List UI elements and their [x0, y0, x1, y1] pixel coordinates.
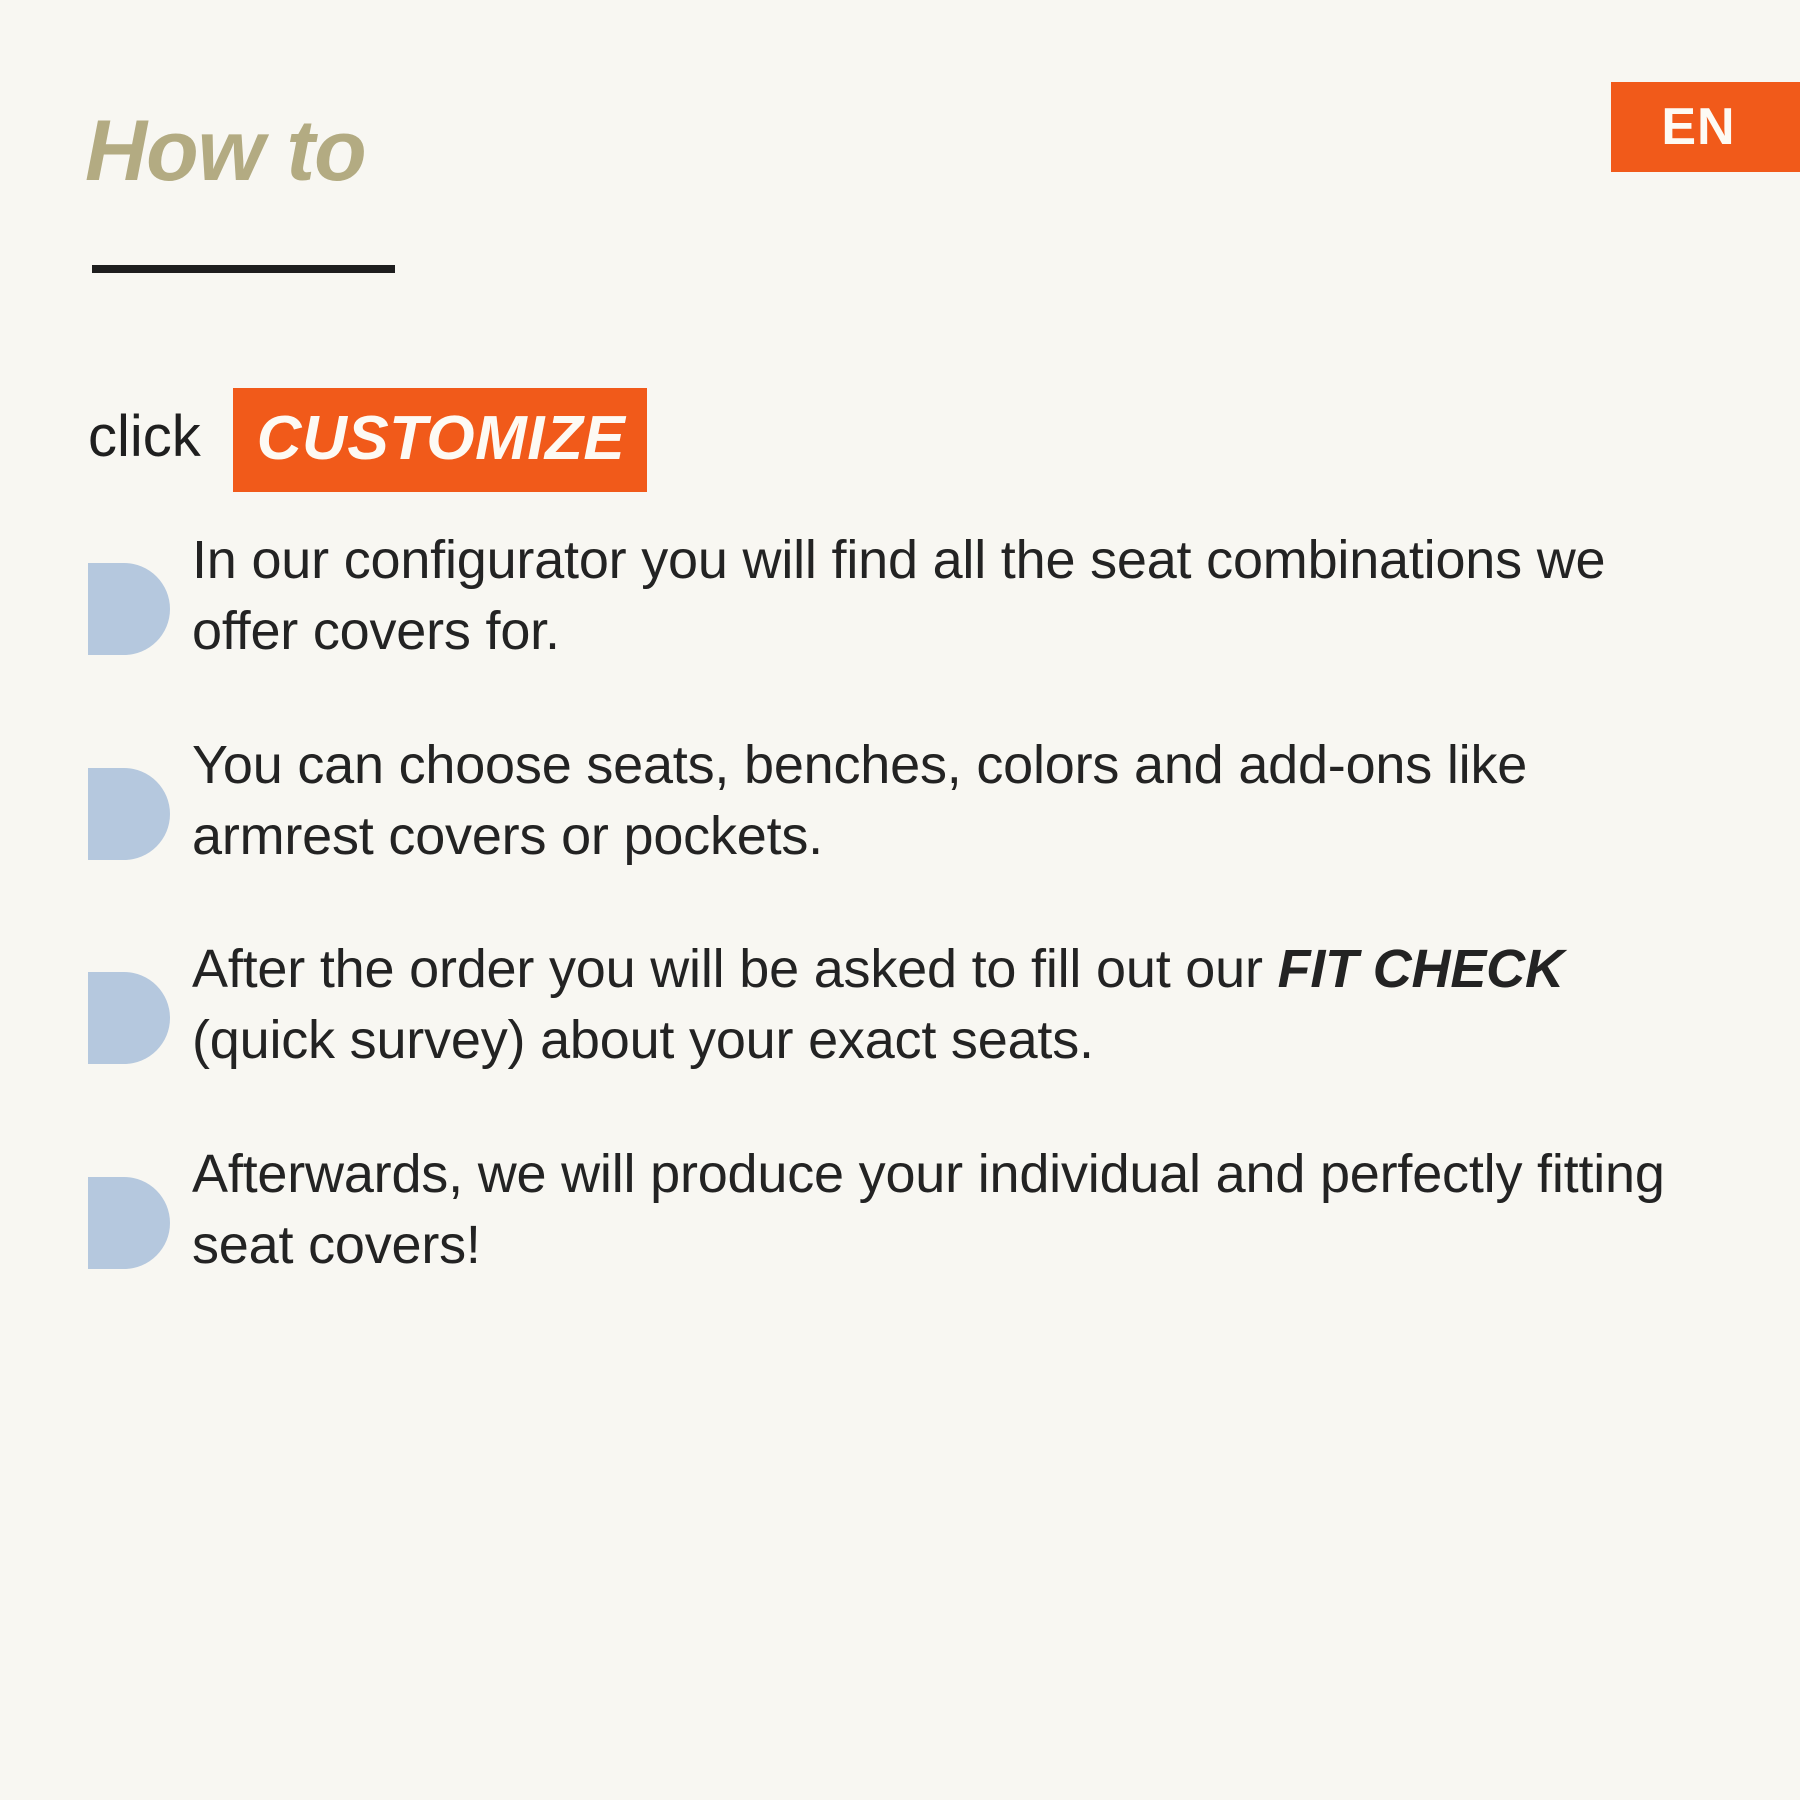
page-title: How to [85, 108, 366, 194]
list-item-text: In our configurator you will find all th… [192, 525, 1708, 668]
customize-instruction-row: click CUSTOMIZE [88, 390, 647, 490]
list-item: After the order you will be asked to fil… [88, 934, 1708, 1077]
list-item-text-after: (quick survey) about your exact seats. [192, 1010, 1094, 1070]
list-item-text-before: After the order you will be asked to fil… [192, 939, 1278, 999]
half-disc-marker-icon [88, 563, 170, 655]
list-item-text: You can choose seats, benches, colors an… [192, 730, 1708, 873]
language-badge-label: EN [1661, 101, 1735, 153]
title-underline-rule [92, 265, 395, 273]
how-to-infographic-page: EN How to click CUSTOMIZE In our configu… [0, 0, 1800, 1800]
list-item-text: Afterwards, we will produce your individ… [192, 1139, 1708, 1282]
half-disc-marker-icon [88, 972, 170, 1064]
click-label: click [88, 408, 201, 472]
list-item: You can choose seats, benches, colors an… [88, 730, 1708, 873]
half-disc-marker-icon [88, 1177, 170, 1269]
list-item: In our configurator you will find all th… [88, 525, 1708, 668]
customize-button-highlight[interactable]: CUSTOMIZE [233, 388, 647, 492]
steps-list: In our configurator you will find all th… [88, 525, 1708, 1343]
half-disc-marker-icon [88, 768, 170, 860]
list-item-text: After the order you will be asked to fil… [192, 934, 1708, 1077]
list-item: Afterwards, we will produce your individ… [88, 1139, 1708, 1282]
fit-check-emphasis: FIT CHECK [1278, 939, 1564, 999]
language-badge[interactable]: EN [1611, 82, 1800, 172]
